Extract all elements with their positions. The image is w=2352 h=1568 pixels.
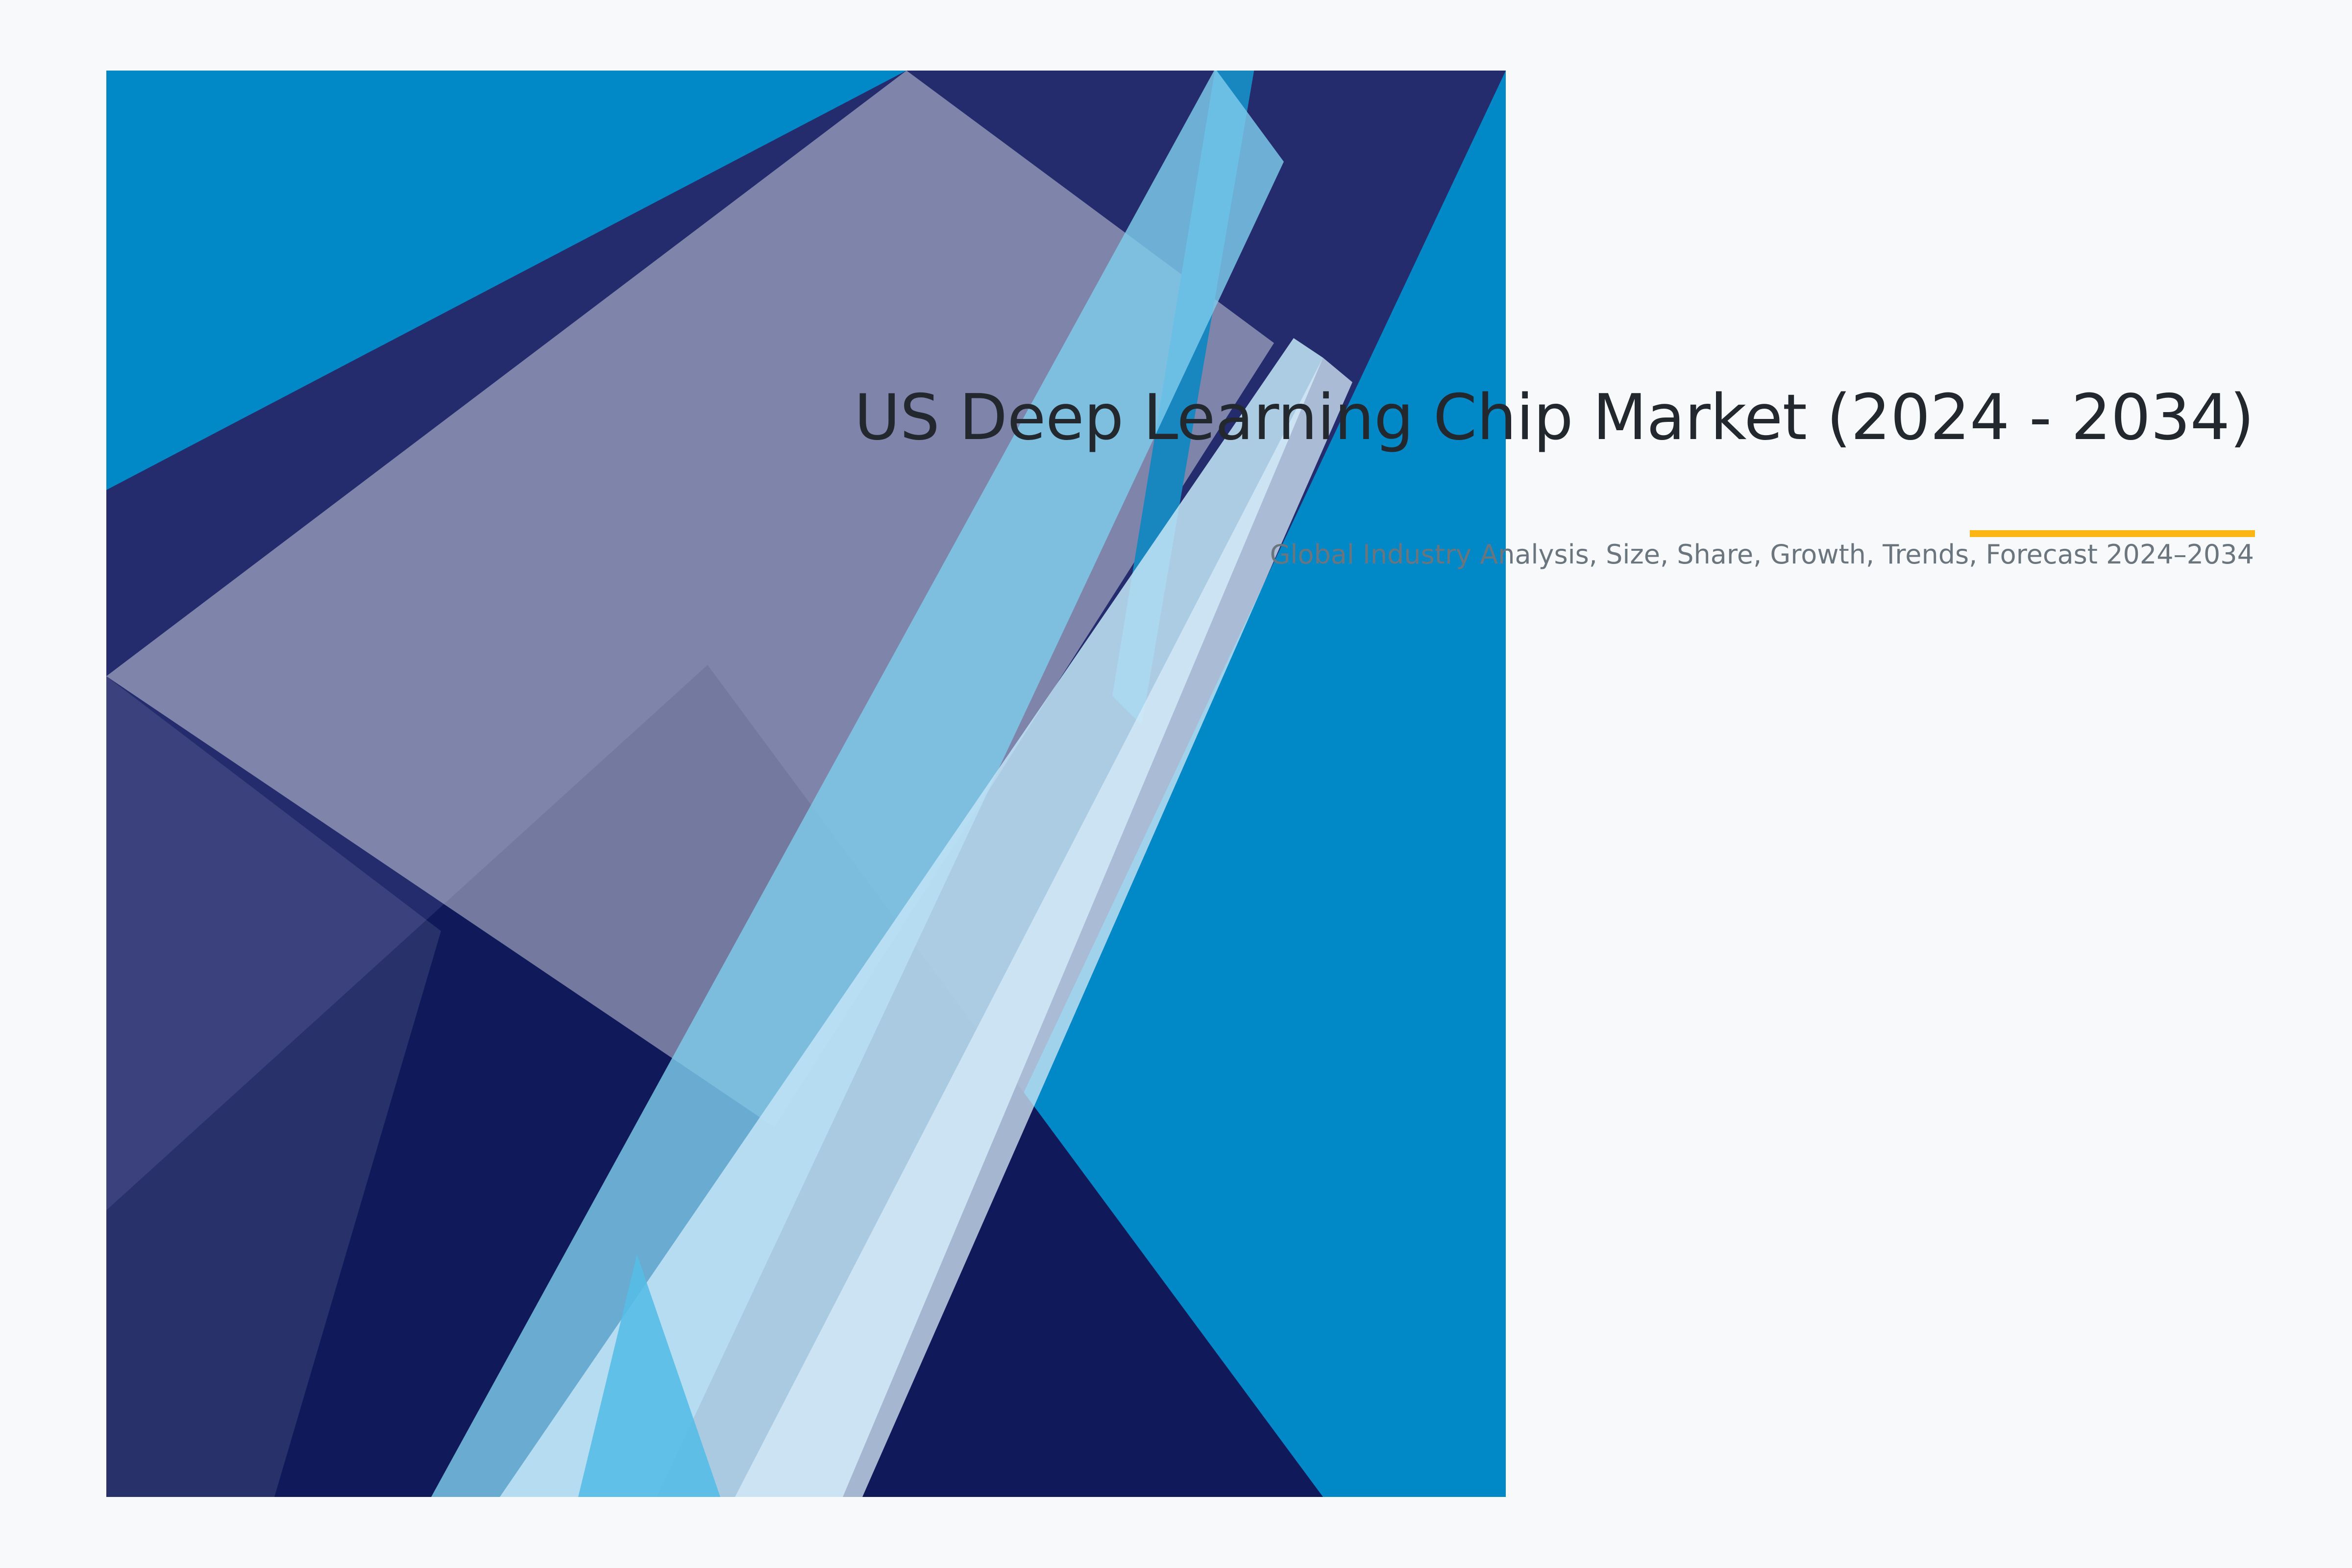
- title-wrapper: US Deep Learning Chip Market (2024 - 203…: [833, 372, 2254, 464]
- cover-page: US Deep Learning Chip Market (2024 - 203…: [0, 0, 2352, 1568]
- page-subtitle: Global Industry Analysis, Size, Share, G…: [833, 464, 2254, 574]
- abstract-geometric-artwork: [0, 0, 2352, 1568]
- cover-text-block: US Deep Learning Chip Market (2024 - 203…: [833, 372, 2254, 573]
- page-title: US Deep Learning Chip Market (2024 - 203…: [833, 372, 2254, 464]
